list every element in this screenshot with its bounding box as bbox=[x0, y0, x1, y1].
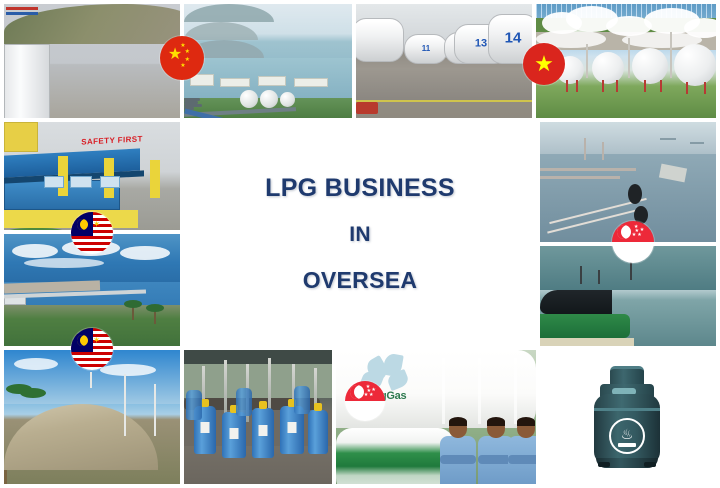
tanker-barrel bbox=[336, 428, 454, 484]
cloud bbox=[120, 246, 170, 260]
tank-number: 14 bbox=[505, 30, 522, 47]
flag-singapore-icon: ★ ★ ★ ★ ★ bbox=[612, 221, 654, 263]
federal-star-icon: ✶ bbox=[93, 220, 101, 229]
palm-frond bbox=[124, 300, 142, 308]
hillside bbox=[4, 4, 180, 44]
cylinder-valve bbox=[259, 401, 267, 409]
terminal-building bbox=[258, 76, 286, 86]
photo-cylinder-filling-carousel bbox=[184, 350, 332, 484]
illustration-lpg-cylinder: ♨ bbox=[540, 350, 716, 484]
cylinder-valve bbox=[201, 399, 209, 407]
flag-china-icon: ★ ★ ★ ★ ★ bbox=[160, 36, 204, 80]
flag-vietnam-icon: ★ bbox=[523, 43, 565, 85]
cylinder-valve bbox=[314, 403, 322, 411]
sphere-leg bbox=[704, 82, 706, 94]
title-panel: LPG BUSINESS IN OVERSEA bbox=[182, 120, 538, 348]
stair-mast bbox=[628, 38, 630, 78]
vietnam-star: ★ bbox=[534, 53, 554, 75]
worker-hair bbox=[449, 417, 467, 426]
bullet-tank bbox=[356, 18, 404, 62]
distant-vessel bbox=[690, 142, 704, 144]
lpg-cylinder bbox=[236, 388, 252, 416]
tank-hoop bbox=[478, 358, 481, 424]
sphere-leg bbox=[602, 80, 604, 92]
sphere-leg bbox=[616, 80, 618, 92]
worker-arms bbox=[440, 455, 476, 464]
lawn bbox=[4, 228, 68, 230]
cylinder-label bbox=[201, 422, 210, 433]
worker-arms bbox=[508, 455, 536, 464]
sphere-leg bbox=[566, 80, 568, 92]
federal-star-icon: ✶ bbox=[93, 336, 101, 345]
tank-hoop bbox=[442, 358, 445, 424]
star-icon: ★ bbox=[367, 389, 371, 394]
tank-number: 13 bbox=[475, 37, 487, 49]
china-large-star: ★ bbox=[168, 47, 182, 63]
title-connector: IN bbox=[349, 223, 371, 247]
crescent-icon bbox=[77, 335, 88, 346]
burner-base bbox=[618, 443, 636, 447]
lpg-cylinder bbox=[294, 386, 310, 414]
window bbox=[100, 176, 120, 188]
palm-trunk bbox=[4, 470, 7, 484]
title-subject: OVERSEA bbox=[303, 267, 418, 294]
tank-hoop bbox=[514, 358, 517, 424]
safety-first-sign: SAFETY FIRST bbox=[66, 134, 158, 148]
palm-frond bbox=[20, 388, 46, 398]
cylinder-foot bbox=[598, 462, 610, 467]
photo-process-tower bbox=[4, 4, 180, 118]
stripe bbox=[71, 367, 113, 370]
palm-frond bbox=[146, 304, 164, 312]
cylinder-weld-ring bbox=[594, 408, 660, 411]
stair-mast bbox=[670, 32, 672, 78]
yellow-pipeline bbox=[356, 100, 532, 102]
china-small-star: ★ bbox=[185, 49, 190, 55]
mountain bbox=[184, 4, 274, 22]
photo-aerial-terminal bbox=[184, 4, 352, 118]
spherical-tank bbox=[240, 90, 258, 108]
ship-deck bbox=[540, 338, 634, 346]
lpg-cylinder bbox=[222, 412, 246, 458]
crescent-icon bbox=[77, 219, 88, 230]
window bbox=[70, 176, 92, 188]
lpg-cylinder bbox=[186, 390, 202, 420]
cylinder-neck bbox=[610, 366, 644, 386]
roof-beam bbox=[184, 350, 332, 364]
light-pole bbox=[124, 374, 126, 436]
white-band bbox=[345, 401, 385, 421]
flame-glyph: ♨ bbox=[619, 427, 635, 443]
flag-malaysia-icon: ✶ bbox=[71, 328, 113, 370]
tower-column bbox=[4, 44, 50, 118]
deck-crane-mast bbox=[602, 142, 604, 160]
terminal-building bbox=[220, 78, 250, 87]
deck-crane-mast bbox=[584, 138, 586, 160]
spherical-tank bbox=[592, 52, 624, 84]
bullet-tank: 11 bbox=[404, 34, 448, 64]
cylinder-label bbox=[259, 425, 268, 436]
sphere-leg bbox=[660, 80, 662, 92]
cloud bbox=[12, 244, 58, 258]
stair-mast bbox=[586, 44, 588, 78]
page-title: LPG BUSINESS bbox=[265, 174, 455, 203]
sky bbox=[540, 122, 716, 154]
cloud bbox=[14, 358, 58, 370]
flame-icon: ♨ bbox=[609, 418, 645, 454]
presentation-slide: 11 12 13 14 bbox=[0, 0, 720, 488]
sphere-leg bbox=[644, 80, 646, 92]
flag-malaysia-icon: ✶ bbox=[71, 212, 113, 254]
lpg-gas-cylinder: ♨ bbox=[592, 366, 662, 470]
spherical-tank bbox=[674, 44, 716, 86]
cloud bbox=[24, 258, 104, 268]
earth-mound bbox=[4, 404, 158, 470]
tank-number: 11 bbox=[422, 44, 430, 53]
star-icon: ★ bbox=[635, 229, 639, 234]
ship-bow-hull bbox=[540, 290, 612, 314]
spherical-tank bbox=[280, 92, 295, 107]
sphere-leg bbox=[576, 80, 578, 92]
spherical-tank bbox=[632, 48, 668, 84]
stripe bbox=[71, 251, 113, 254]
crescent-icon bbox=[350, 385, 364, 399]
white-band bbox=[612, 242, 654, 263]
light-pole bbox=[154, 384, 156, 436]
lpg-cylinder bbox=[252, 408, 274, 458]
cylinder-foot bbox=[644, 462, 656, 467]
photo-bullet-tanks: 11 12 13 14 bbox=[356, 4, 532, 118]
red-trolley bbox=[356, 102, 378, 114]
cylinder-label bbox=[230, 428, 239, 439]
sphere-leg bbox=[686, 82, 688, 94]
terminal-building bbox=[294, 78, 328, 87]
china-small-star: ★ bbox=[180, 63, 185, 69]
deck-pipeline bbox=[540, 176, 620, 179]
spherical-tank bbox=[260, 90, 278, 108]
lpg-cylinder bbox=[308, 410, 328, 454]
distant-vessel bbox=[660, 138, 676, 140]
worker-hair bbox=[517, 417, 535, 426]
side-structure bbox=[4, 122, 38, 152]
deck-pipeline bbox=[540, 168, 636, 171]
ship-mast bbox=[580, 266, 582, 284]
pneumatic-fender bbox=[628, 184, 642, 204]
flag-singapore-icon: ★ ★ ★ ★ ★ bbox=[345, 381, 385, 421]
mountain bbox=[184, 22, 258, 40]
vent-mast bbox=[90, 372, 92, 388]
worker-hair bbox=[487, 417, 505, 426]
ship-green-hull bbox=[540, 314, 630, 338]
photo-mounded-bullet bbox=[4, 350, 180, 484]
support-column bbox=[150, 160, 160, 198]
cylinder-label bbox=[288, 422, 297, 433]
ship-mast bbox=[598, 270, 600, 284]
window bbox=[44, 176, 64, 188]
